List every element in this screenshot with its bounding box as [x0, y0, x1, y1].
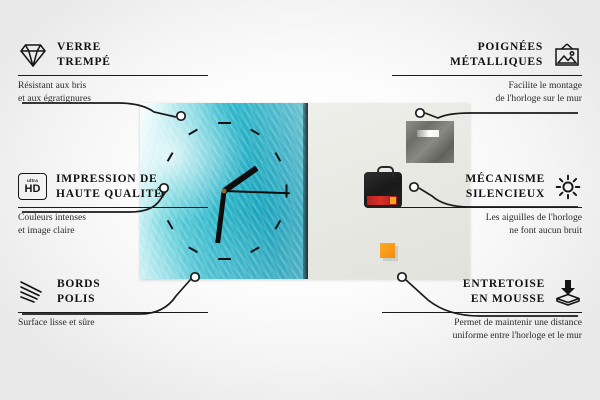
feature-mecanisme-silencieux: MÉCANISME SILENCIEUX Les aiguilles de l'… [392, 172, 582, 238]
feature-header: POIGNÉES MÉTALLIQUES [392, 40, 582, 70]
feature-title: VERRE TREMPÉ [57, 40, 111, 70]
clock-center-pin [222, 189, 227, 194]
feature-title-line1: MÉCANISME [465, 172, 545, 187]
clock-hour-hand [222, 166, 258, 193]
feature-description: Facilite le montage de l'horloge sur le … [392, 80, 582, 106]
feature-desc-line1: Facilite le montage [392, 80, 582, 93]
clock-second-hand [224, 190, 290, 194]
feature-desc-line1: Couleurs intenses [18, 212, 208, 225]
feature-title-line1: VERRE [57, 40, 111, 55]
feature-description: Permet de maintenir une distance uniform… [382, 317, 582, 343]
feature-desc-line2: ne font aucun bruit [392, 225, 582, 238]
infographic-canvas: VERRE TREMPÉ Résistant aux bris et aux é… [0, 0, 600, 400]
feature-title-line1: POIGNÉES [450, 40, 543, 55]
clock-tick [167, 152, 173, 162]
clock-tick [285, 185, 287, 198]
feature-impression-haute-qualite: ultra HD IMPRESSION DE HAUTE QUALITÉ Cou… [18, 172, 208, 238]
clock-tick [250, 246, 260, 252]
feature-desc-line1: Les aiguilles de l'horloge [392, 212, 582, 225]
feature-divider [392, 75, 582, 77]
ultra-hd-icon: ultra HD [18, 173, 47, 200]
feature-divider [18, 75, 208, 77]
feature-title: ENTRETOISE EN MOUSSE [463, 277, 545, 307]
feature-title: POIGNÉES MÉTALLIQUES [450, 40, 543, 70]
feature-header: ENTRETOISE EN MOUSSE [382, 277, 582, 307]
feature-divider [18, 207, 208, 209]
feature-divider [392, 207, 582, 209]
feature-title-line1: BORDS [57, 277, 100, 292]
clock-tick [218, 258, 231, 260]
feature-desc-line2: de l'horloge sur le mur [392, 93, 582, 106]
feature-description: Les aiguilles de l'horloge ne font aucun… [392, 212, 582, 238]
feature-title-line1: ENTRETOISE [463, 277, 545, 292]
feature-title: MÉCANISME SILENCIEUX [465, 172, 545, 202]
feature-divider [18, 312, 208, 314]
clock-tick [250, 129, 260, 135]
feature-bords-polis: BORDS POLIS Surface lisse et sûre [18, 277, 208, 330]
feature-header: ultra HD IMPRESSION DE HAUTE QUALITÉ [18, 172, 208, 202]
foam-spacer-icon [554, 278, 582, 306]
polished-edges-icon [18, 280, 48, 304]
feature-desc-line1: Résistant aux bris [18, 80, 208, 93]
feature-title-line2: TREMPÉ [57, 55, 111, 70]
feature-desc-line1: Surface lisse et sûre [18, 317, 208, 330]
feature-description: Résistant aux bris et aux égratignures [18, 80, 208, 106]
diamond-icon [18, 42, 48, 68]
feature-title-line2: HAUTE QUALITÉ [56, 187, 163, 202]
feature-verre-trempe: VERRE TREMPÉ Résistant aux bris et aux é… [18, 40, 208, 106]
feature-desc-line1: Permet de maintenir une distance [382, 317, 582, 330]
feature-description: Surface lisse et sûre [18, 317, 208, 330]
feature-divider [382, 312, 582, 314]
feature-description: Couleurs intenses et image claire [18, 212, 208, 238]
feature-poignees-metalliques: POIGNÉES MÉTALLIQUES Facilite le montage… [392, 40, 582, 106]
feature-title-line2: EN MOUSSE [463, 292, 545, 307]
feature-title: BORDS POLIS [57, 277, 100, 307]
foam-spacer [380, 243, 395, 258]
feature-entretoise-en-mousse: ENTRETOISE EN MOUSSE Permet de maintenir… [382, 277, 582, 343]
feature-desc-line2: et image claire [18, 225, 208, 238]
wall-hanger-icon [552, 42, 582, 68]
clock-tick [188, 129, 198, 135]
feature-title: IMPRESSION DE HAUTE QUALITÉ [56, 172, 163, 202]
clock-tick [274, 152, 280, 162]
feature-desc-line2: et aux égratignures [18, 93, 208, 106]
feature-title-line2: MÉTALLIQUES [450, 55, 543, 70]
clock-tick [218, 122, 231, 124]
clock-minute-hand [215, 191, 226, 243]
gear-icon [554, 173, 582, 201]
feature-title-line2: SILENCIEUX [465, 187, 545, 202]
feature-desc-line2: uniforme entre l'horloge et le mur [382, 330, 582, 343]
feature-header: MÉCANISME SILENCIEUX [392, 172, 582, 202]
feature-title-line1: IMPRESSION DE [56, 172, 163, 187]
feature-title-line2: POLIS [57, 292, 100, 307]
clock-tick [188, 246, 198, 252]
feature-header: VERRE TREMPÉ [18, 40, 208, 70]
clock-tick [274, 220, 280, 230]
metal-hanger-plate [406, 121, 454, 163]
ultra-hd-big-label: HD [25, 184, 41, 195]
feature-header: BORDS POLIS [18, 277, 208, 307]
